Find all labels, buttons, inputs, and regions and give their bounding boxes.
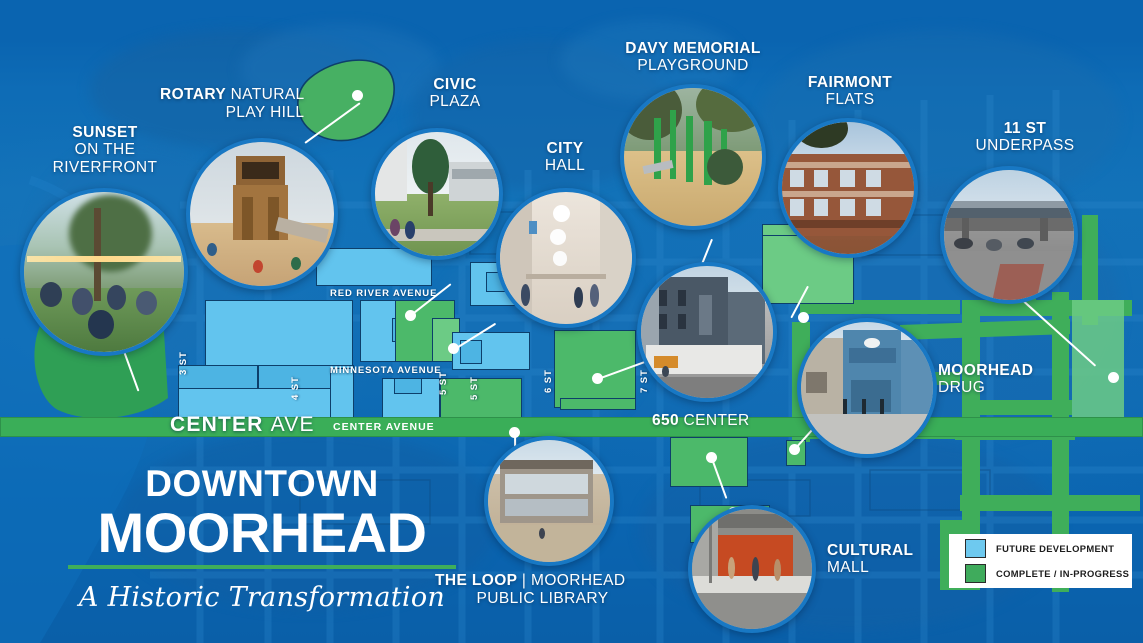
title-line-downtown: DOWNTOWN: [62, 465, 462, 502]
legend-swatch-future-icon: [965, 539, 986, 558]
callout-label-moorhead-drug: MOORHEAD DRUG: [938, 362, 1033, 397]
photo-cultural-mall[interactable]: [688, 505, 816, 633]
photo-650-center[interactable]: [637, 262, 777, 402]
legend-swatch-complete-icon: [965, 564, 986, 583]
map-legend: FUTURE DEVELOPMENT COMPLETE / IN-PROGRES…: [949, 534, 1132, 588]
center-avenue-label: CENTER AVENUE: [333, 421, 435, 433]
callout-label-underpass: 11 ST UNDERPASS: [950, 120, 1100, 155]
callout-label-civic-plaza: CIVIC PLAZA: [390, 76, 520, 111]
photo-civic-plaza[interactable]: [371, 128, 503, 260]
callout-label-davy: DAVY MEMORIAL PLAYGROUND: [595, 40, 791, 75]
street-label-5-st: 5 ST: [438, 371, 449, 395]
callout-label-650-center: 650 CENTER: [652, 412, 750, 430]
callout-label-the-loop: THE LOOP | MOORHEAD PUBLIC LIBRARY: [435, 572, 650, 607]
photo-rotary-play-hill[interactable]: [186, 138, 338, 290]
poster-canvas: CENTER AVE CENTER AVENUE RED RIVER AVENU…: [0, 0, 1143, 643]
street-label-5-st-b: 5 ST: [469, 376, 480, 400]
photo-sunset-riverfront[interactable]: [20, 188, 188, 356]
street-label-4-st: 4 ST: [290, 376, 301, 400]
callout-label-rotary: ROTARY NATURAL PLAY HILL: [160, 86, 370, 121]
title-rule: [68, 565, 456, 569]
legend-label-future: FUTURE DEVELOPMENT: [996, 543, 1114, 554]
callout-label-sunset: SUNSET ON THE RIVERFRONT: [30, 124, 180, 176]
legend-row-complete: COMPLETE / IN-PROGRESS: [965, 564, 1132, 583]
title-subtitle: A Historic Transformation: [62, 582, 462, 613]
callout-label-cultural-mall: CULTURAL MALL: [827, 542, 913, 577]
photo-11-st-underpass[interactable]: [940, 166, 1078, 304]
center-ave-major-label: CENTER AVE: [170, 413, 315, 437]
title-line-moorhead: MOORHEAD: [62, 504, 462, 561]
callout-label-city-hall: CITY HALL: [505, 140, 625, 175]
legend-row-future: FUTURE DEVELOPMENT: [965, 539, 1132, 558]
photo-davy-playground[interactable]: [620, 84, 766, 230]
street-label-3-st: 3 ST: [178, 351, 189, 375]
photo-fairmont-flats[interactable]: [778, 118, 918, 258]
street-label-red-river: RED RIVER AVENUE: [330, 288, 437, 299]
legend-label-complete: COMPLETE / IN-PROGRESS: [996, 568, 1129, 579]
photo-the-loop-library[interactable]: [484, 436, 614, 566]
callout-label-fairmont: FAIRMONT FLATS: [770, 74, 930, 109]
poster-title-block: DOWNTOWN MOORHEAD A Historic Transformat…: [62, 465, 462, 613]
street-label-6-st: 6 ST: [543, 369, 554, 393]
photo-moorhead-drug[interactable]: [797, 318, 937, 458]
photo-city-hall[interactable]: [496, 188, 636, 328]
street-label-minnesota: MINNESOTA AVENUE: [330, 365, 442, 376]
